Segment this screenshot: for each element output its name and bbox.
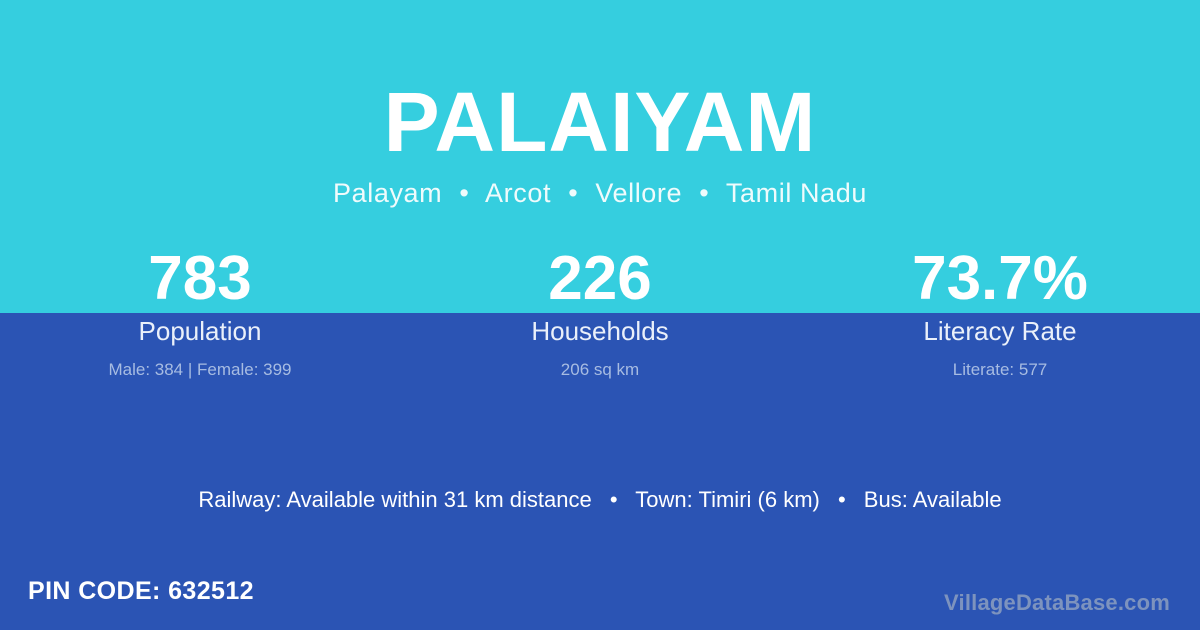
stats-row: 783 Population Male: 384 | Female: 399 2… (0, 245, 1200, 381)
breadcrumb-item-block: Arcot (485, 178, 551, 208)
stat-population-sub: Male: 384 | Female: 399 (0, 359, 400, 381)
stat-households: 226 Households 206 sq km (400, 245, 800, 381)
amenities-info-line: Railway: Available within 31 km distance… (0, 485, 1200, 515)
brand-watermark: VillageDataBase.com (944, 589, 1170, 617)
village-info-card: PALAIYAM Palayam • Arcot • Vellore • Tam… (0, 0, 1200, 630)
stat-households-label: Households (400, 315, 800, 347)
info-separator: • (826, 487, 858, 512)
stat-literacy-rate-sub: Literate: 577 (800, 359, 1200, 381)
breadcrumb: Palayam • Arcot • Vellore • Tamil Nadu (0, 178, 1200, 209)
breadcrumb-separator: • (690, 178, 718, 208)
info-bus: Bus: Available (864, 487, 1002, 512)
page-title: PALAIYAM (0, 78, 1200, 166)
info-town: Town: Timiri (6 km) (635, 487, 820, 512)
card-header: PALAIYAM Palayam • Arcot • Vellore • Tam… (0, 0, 1200, 209)
info-railway: Railway: Available within 31 km distance (198, 487, 591, 512)
info-separator: • (598, 487, 630, 512)
breadcrumb-separator: • (559, 178, 587, 208)
stat-households-sub: 206 sq km (400, 359, 800, 381)
stat-population-label: Population (0, 315, 400, 347)
stat-literacy-rate-label: Literacy Rate (800, 315, 1200, 347)
stat-literacy-rate: 73.7% Literacy Rate Literate: 577 (800, 245, 1200, 381)
stat-population: 783 Population Male: 384 | Female: 399 (0, 245, 400, 381)
stat-literacy-rate-value: 73.7% (800, 245, 1200, 313)
pin-code-label: PIN CODE: 632512 (28, 575, 254, 607)
stat-households-value: 226 (400, 245, 800, 313)
stat-population-value: 783 (0, 245, 400, 313)
breadcrumb-separator: • (450, 178, 478, 208)
breadcrumb-item-state: Tamil Nadu (726, 178, 867, 208)
breadcrumb-item-district: Vellore (595, 178, 682, 208)
breadcrumb-item-village: Palayam (333, 178, 442, 208)
